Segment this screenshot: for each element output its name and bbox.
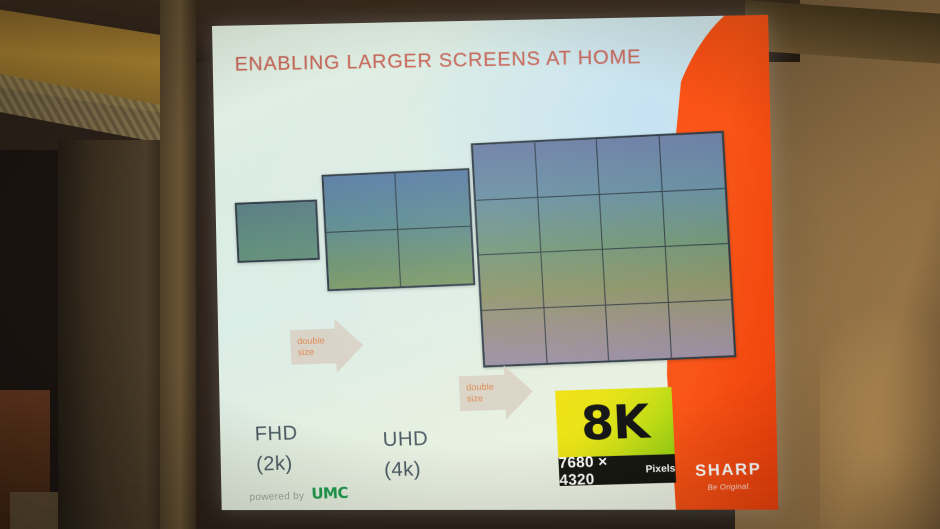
column-edge (160, 0, 196, 529)
sharp-logo: SHARP Be Original. (683, 460, 774, 492)
fhd-panel-grid (237, 202, 318, 261)
panel-cell (544, 305, 609, 363)
8k-resolution-value: 7680 × 4320 (558, 452, 642, 489)
panel-cell (324, 173, 399, 232)
arrow-label-line2: size (298, 347, 315, 358)
wall-light-glow (820, 300, 940, 529)
slide-title: ENABLING LARGER SCREENS AT HOME (235, 46, 642, 77)
panel-cell (398, 227, 473, 286)
8k-badge-resolution: 7680 × 4320 Pixels (558, 454, 676, 486)
panel-cell (473, 142, 538, 200)
panel-cell (597, 136, 662, 194)
arrow-label-line1: double (297, 335, 325, 346)
panel-cell (662, 189, 728, 247)
panel-cell (476, 197, 541, 255)
uhd-label: UHD (4k) (382, 424, 430, 486)
arrow-label-line2: size (467, 393, 484, 404)
double-size-arrow-icon: double size (289, 318, 364, 375)
panel-cell (538, 194, 603, 252)
panel-cell (479, 253, 544, 311)
uhd-label-sub: (4k) (383, 454, 430, 485)
wall-sign (10, 492, 62, 529)
projection-screen: ENABLING LARGER SCREENS AT HOME (212, 15, 778, 510)
panel-cell (603, 247, 668, 305)
uhd-label-name: UHD (382, 424, 429, 455)
panel-cell (535, 139, 600, 197)
powered-by: powered by UMC (249, 484, 348, 504)
fhd-label-name: FHD (254, 418, 298, 449)
fhd-label-sub: (2k) (256, 448, 300, 479)
8k-panel-grid (473, 133, 734, 365)
panel-cell (665, 244, 731, 302)
sharp-logo-name: SHARP (683, 460, 773, 481)
panel-cell (668, 300, 734, 358)
umc-logo: UMC (311, 484, 348, 503)
panel-cell (606, 302, 671, 360)
uhd-screen (322, 168, 476, 291)
8k-badge: 8K 7680 × 4320 Pixels (555, 387, 676, 486)
panel-cell (482, 308, 547, 366)
double-size-arrow-icon: double size (458, 364, 534, 421)
8k-badge-headline-text: 8K (580, 398, 650, 447)
panel-cell (659, 133, 725, 192)
fhd-label: FHD (2k) (254, 418, 299, 479)
8k-resolution-unit: Pixels (645, 463, 675, 475)
panel-cell (395, 170, 470, 230)
photo-scene: ENABLING LARGER SCREENS AT HOME (0, 0, 940, 529)
8k-screen (471, 131, 737, 368)
slide-canvas: ENABLING LARGER SCREENS AT HOME (212, 15, 778, 510)
panel-cell (327, 230, 402, 289)
arrow-label-line1: double (466, 381, 494, 392)
uhd-panel-grid (324, 170, 474, 289)
panel-cell (600, 191, 665, 249)
fhd-screen (235, 200, 320, 263)
panel-cell (541, 250, 606, 308)
room-column (58, 140, 168, 529)
panel-cell (237, 202, 318, 261)
powered-by-prefix: powered by (249, 491, 304, 503)
8k-badge-headline: 8K (555, 387, 675, 458)
